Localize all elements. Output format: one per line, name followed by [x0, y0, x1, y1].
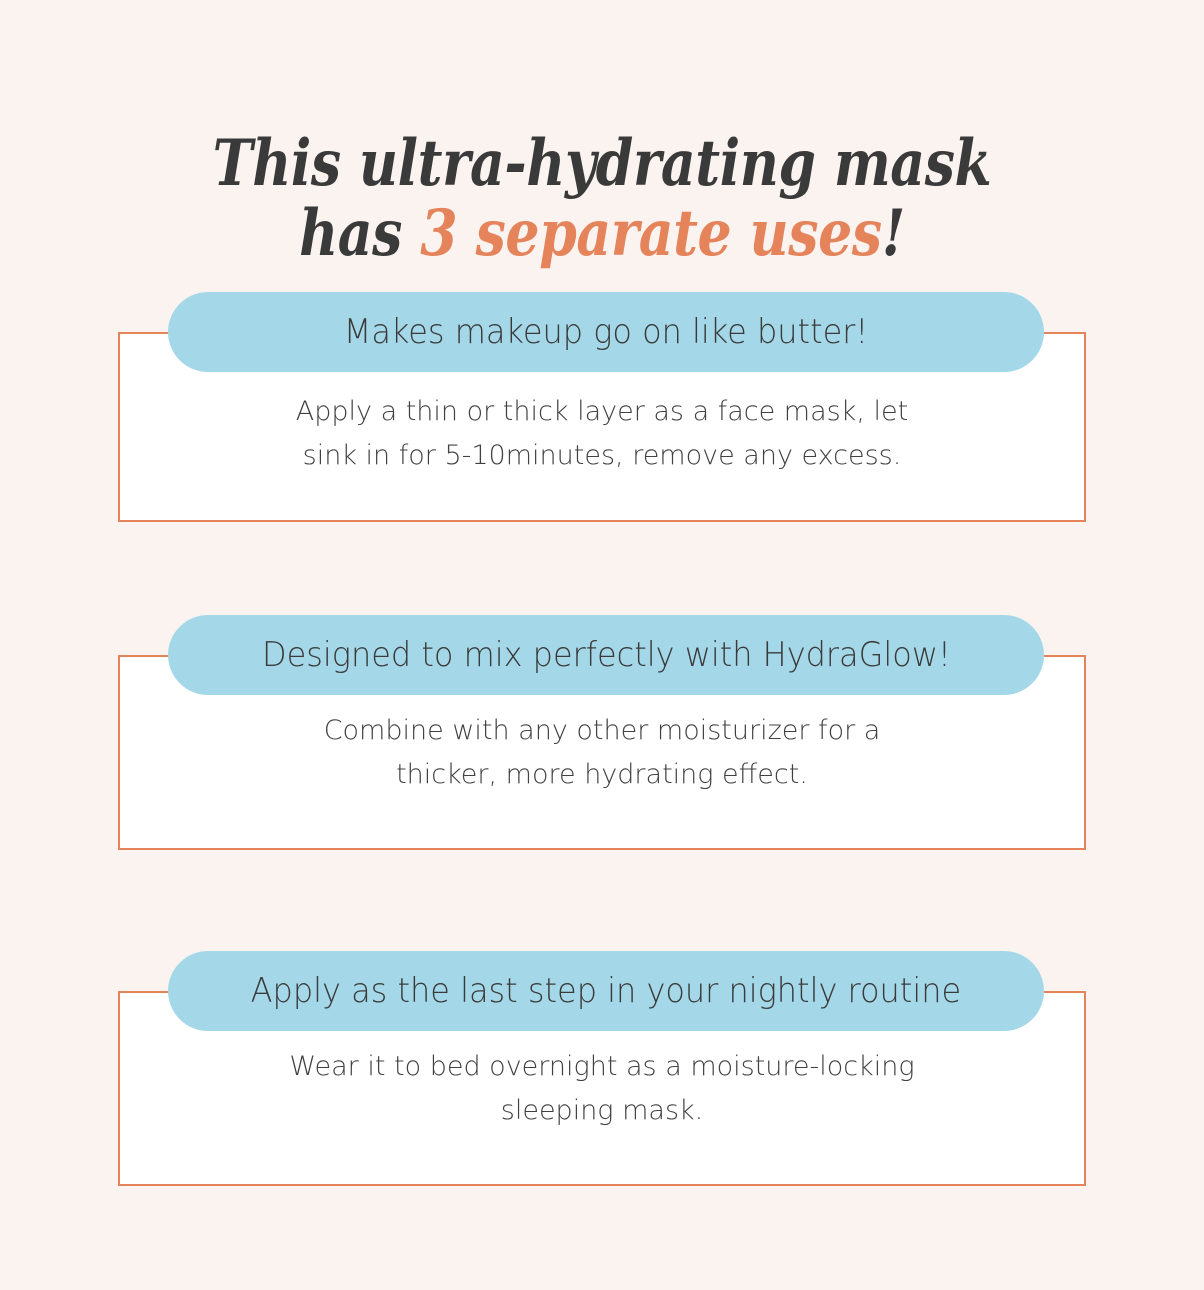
use-card-3-banner-label: Apply as the last step in your nightly r…: [251, 971, 961, 1011]
use-card-2-description-line-1: Combine with any other moisturizer for a: [180, 709, 1024, 753]
page-title-line-2: has 3 separate uses!: [96, 199, 1107, 269]
use-card-1-banner-label: Makes makeup go on like butter!: [344, 312, 868, 352]
use-card-3-description-line-1: Wear it to bed overnight as a moisture-l…: [180, 1045, 1024, 1089]
use-card-3-description-line-2: sleeping mask.: [180, 1089, 1024, 1133]
use-card-1-description: Apply a thin or thick layer as a face ma…: [120, 390, 1084, 478]
page-title-line-1: This ultra-hydrating mask: [96, 129, 1107, 199]
use-card-1-description-line-1: Apply a thin or thick layer as a face ma…: [180, 390, 1024, 434]
use-card-1-banner: Makes makeup go on like butter!: [168, 292, 1044, 372]
page-title-prefix: has: [299, 196, 420, 271]
use-card-1-description-line-2: sink in for 5-10minutes, remove any exce…: [180, 434, 1024, 478]
use-card-2-description: Combine with any other moisturizer for a…: [120, 709, 1084, 797]
use-card-2-description-line-2: thicker, more hydrating effect.: [180, 753, 1024, 797]
use-card-3-banner: Apply as the last step in your nightly r…: [168, 951, 1044, 1031]
page-title-suffix: !: [882, 196, 905, 271]
infographic-page: This ultra-hydrating mask has 3 separate…: [0, 0, 1204, 1290]
use-card-3-description: Wear it to bed overnight as a moisture-l…: [120, 1045, 1084, 1133]
use-card-2-banner-label: Designed to mix perfectly with HydraGlow…: [262, 635, 951, 675]
page-title: This ultra-hydrating mask has 3 separate…: [96, 129, 1107, 269]
page-title-accent: 3 separate uses: [420, 196, 881, 271]
use-card-2-banner: Designed to mix perfectly with HydraGlow…: [168, 615, 1044, 695]
